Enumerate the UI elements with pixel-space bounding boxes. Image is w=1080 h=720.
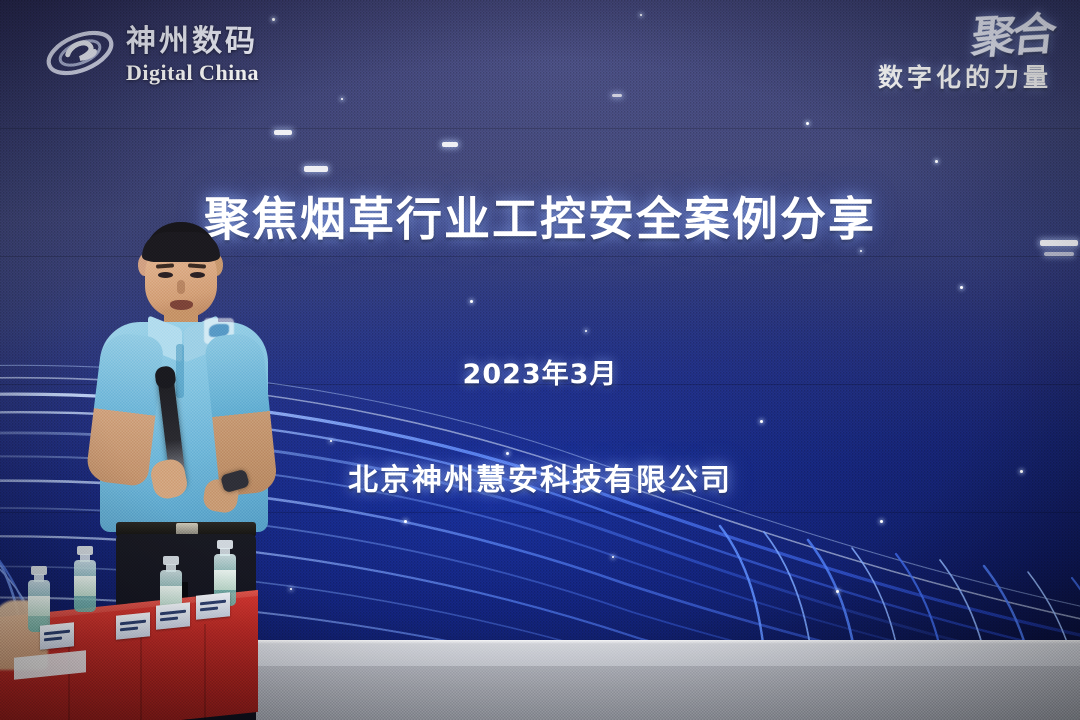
name-card [116, 612, 150, 640]
event-slogan-calligraphy: 聚合 [970, 16, 1055, 58]
name-card [156, 602, 190, 630]
event-slogan: 聚合 数字化的力量 [878, 18, 1052, 94]
presenter-fringe [142, 232, 220, 262]
brand-name-en: Digital China [126, 62, 259, 84]
brand-name-cn: 神州数码 [126, 27, 259, 57]
presenter-eye-right [190, 272, 205, 278]
presenter-eye-left [158, 272, 173, 278]
digital-china-swirl-icon [44, 22, 116, 84]
brand-logo: 神州数码 Digital China [44, 22, 259, 84]
presenter-nose [177, 280, 185, 294]
presenter-mouth [170, 300, 193, 310]
brand-names: 神州数码 Digital China [126, 23, 259, 84]
presenter-shirt-placket [176, 344, 184, 398]
name-card [196, 592, 230, 620]
event-slogan-subtitle: 数字化的力量 [878, 58, 1052, 94]
presenter [92, 222, 282, 622]
conference-stage-photo: 神州数码 Digital China 聚合 数字化的力量 聚焦烟草行业工控安全案… [0, 0, 1080, 720]
name-card [40, 622, 74, 650]
